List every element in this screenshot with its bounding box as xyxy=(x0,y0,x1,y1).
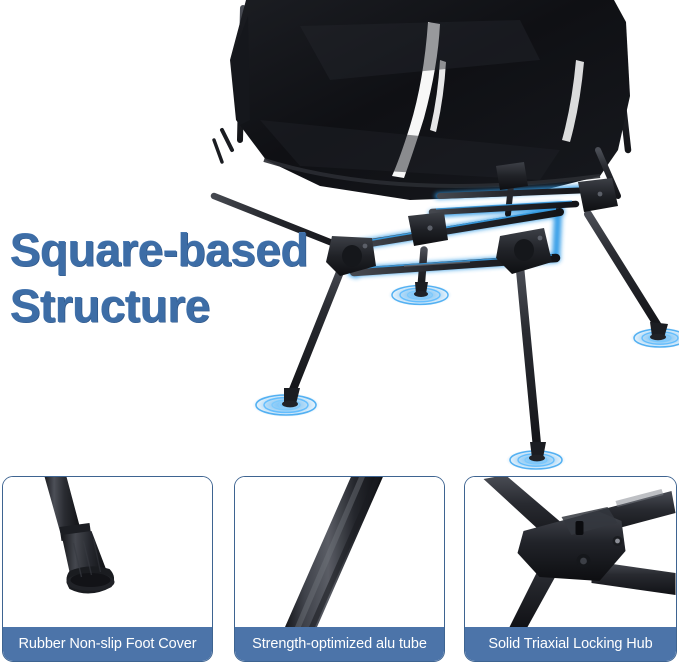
hero-section: Square-based Structure xyxy=(0,0,679,470)
hub-seat-right xyxy=(496,162,528,190)
hub-center xyxy=(408,212,448,246)
feature-panel-locking-hub[interactable]: Solid Triaxial Locking Hub xyxy=(464,476,677,662)
feature-caption-rubber-foot-cover: Rubber Non-slip Foot Cover xyxy=(3,627,212,661)
feature-caption-alu-tube: Strength-optimized alu tube xyxy=(235,627,444,661)
feature-photo-rubber-foot-cover xyxy=(3,477,212,629)
hub-right xyxy=(496,228,552,274)
feature-caption-text: Rubber Non-slip Foot Cover xyxy=(19,636,197,652)
feature-photo-alu-tube xyxy=(235,477,444,629)
feature-caption-locking-hub: Solid Triaxial Locking Hub xyxy=(465,627,676,661)
feature-panel-rubber-foot-cover[interactable]: Rubber Non-slip Foot Cover xyxy=(2,476,213,662)
chair-feet xyxy=(282,282,668,461)
feature-caption-text: Strength-optimized alu tube xyxy=(252,636,427,652)
chair-fabric xyxy=(214,0,630,200)
feature-panels: Rubber Non-slip Foot Cover xyxy=(0,476,679,669)
feature-photo-locking-hub xyxy=(465,477,676,629)
feature-caption-text: Solid Triaxial Locking Hub xyxy=(488,636,652,652)
feature-panel-alu-tube[interactable]: Strength-optimized alu tube xyxy=(234,476,445,662)
chair-illustration xyxy=(0,0,679,470)
hub-upper-right xyxy=(578,178,618,212)
